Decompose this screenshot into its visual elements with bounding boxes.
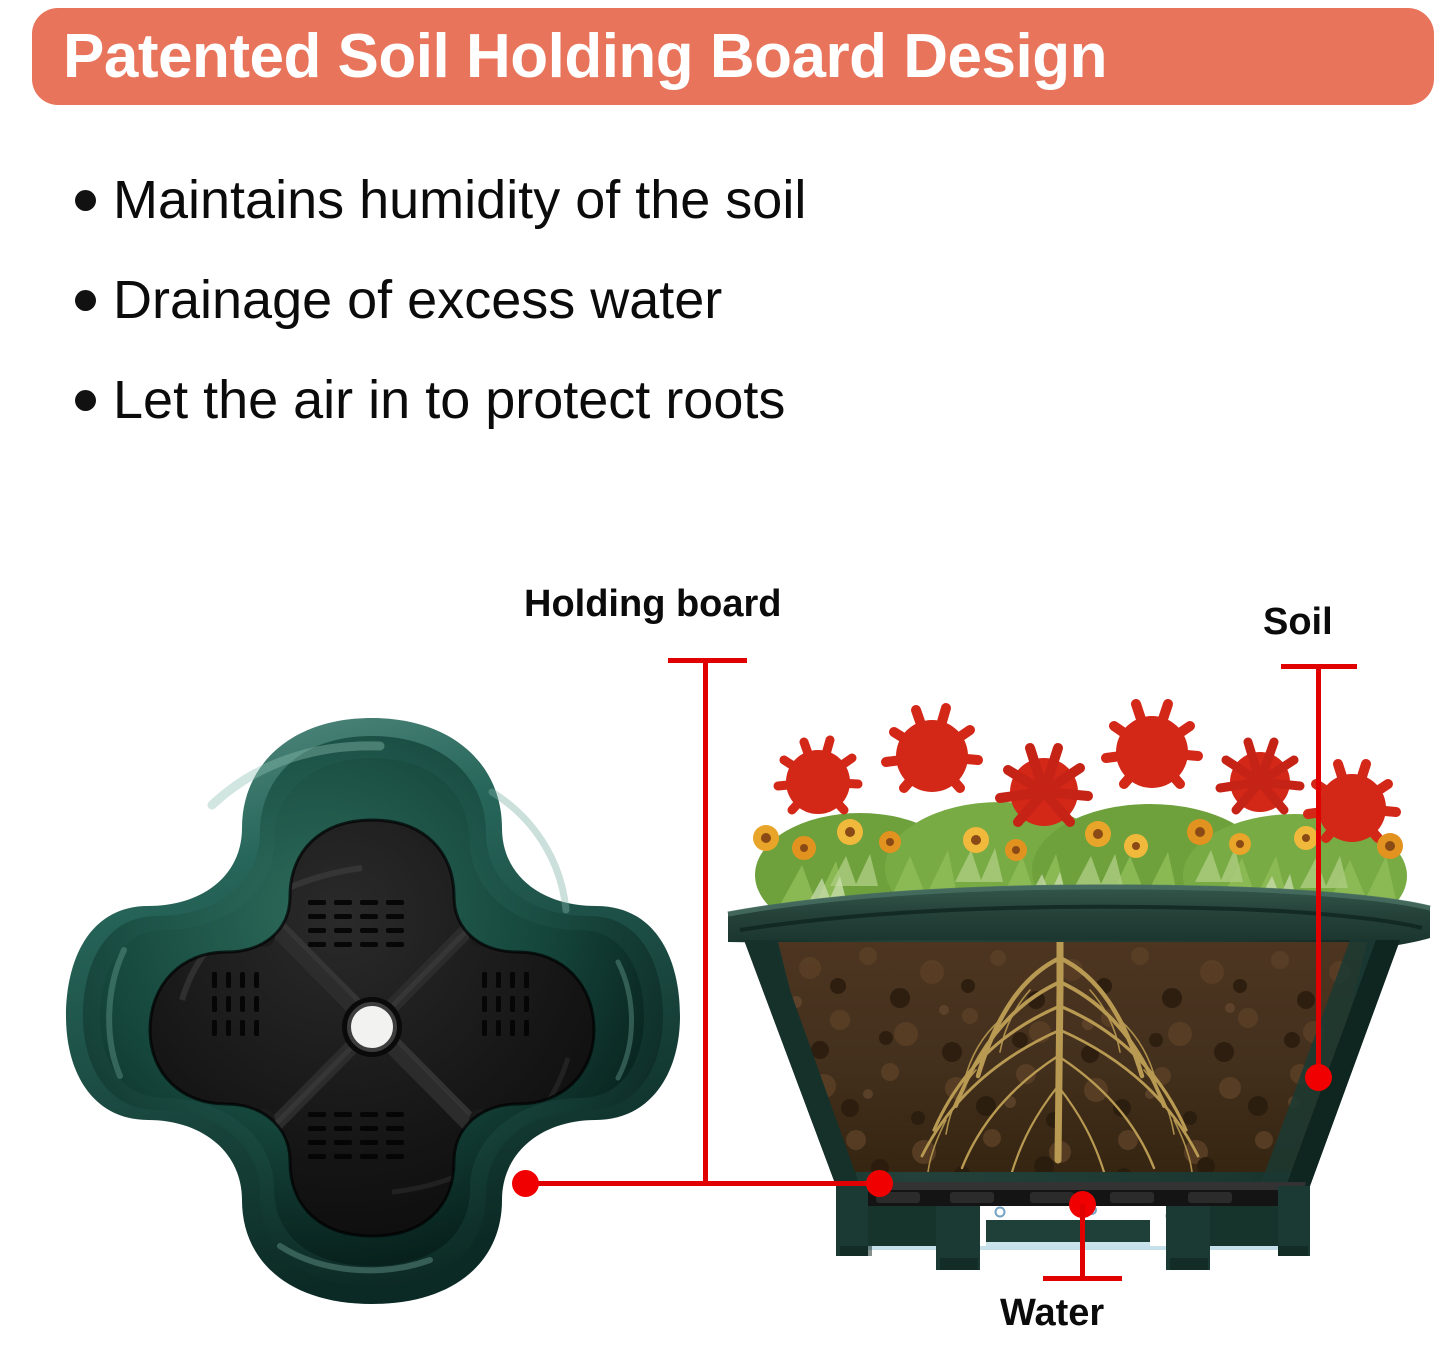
leader-tbar-water xyxy=(1043,1276,1122,1281)
leader-dot-soil xyxy=(1305,1064,1332,1091)
callout-label-holding-board: Holding board xyxy=(524,585,782,623)
bullet-icon xyxy=(75,390,96,411)
leader-stem-soil xyxy=(1316,664,1321,1078)
leader-stem-holding-board xyxy=(703,658,708,1186)
leader-stem-water xyxy=(1080,1204,1085,1280)
title-banner: Patented Soil Holding Board Design xyxy=(32,8,1434,105)
feature-label: Drainage of excess water xyxy=(113,273,722,327)
bullet-icon xyxy=(75,190,96,211)
feature-label: Let the air in to protect roots xyxy=(113,373,785,427)
leader-dot-left-planter-board xyxy=(512,1170,539,1197)
bullet-icon xyxy=(75,290,96,311)
leader-dot-cross-section-board xyxy=(866,1170,893,1197)
callout-label-soil: Soil xyxy=(1263,603,1333,641)
page-title: Patented Soil Holding Board Design xyxy=(32,26,1107,88)
quatrefoil-planter-photo xyxy=(62,700,682,1320)
list-item: Drainage of excess water xyxy=(75,265,722,335)
feature-label: Maintains humidity of the soil xyxy=(113,173,806,227)
list-item: Let the air in to protect roots xyxy=(75,365,785,435)
leader-branch-left-holding-board xyxy=(525,1181,707,1186)
leader-branch-right-holding-board xyxy=(703,1181,881,1186)
callout-label-water: Water xyxy=(1000,1294,1104,1332)
list-item: Maintains humidity of the soil xyxy=(75,165,806,235)
infographic-page: Patented Soil Holding Board Design Maint… xyxy=(0,0,1445,1351)
